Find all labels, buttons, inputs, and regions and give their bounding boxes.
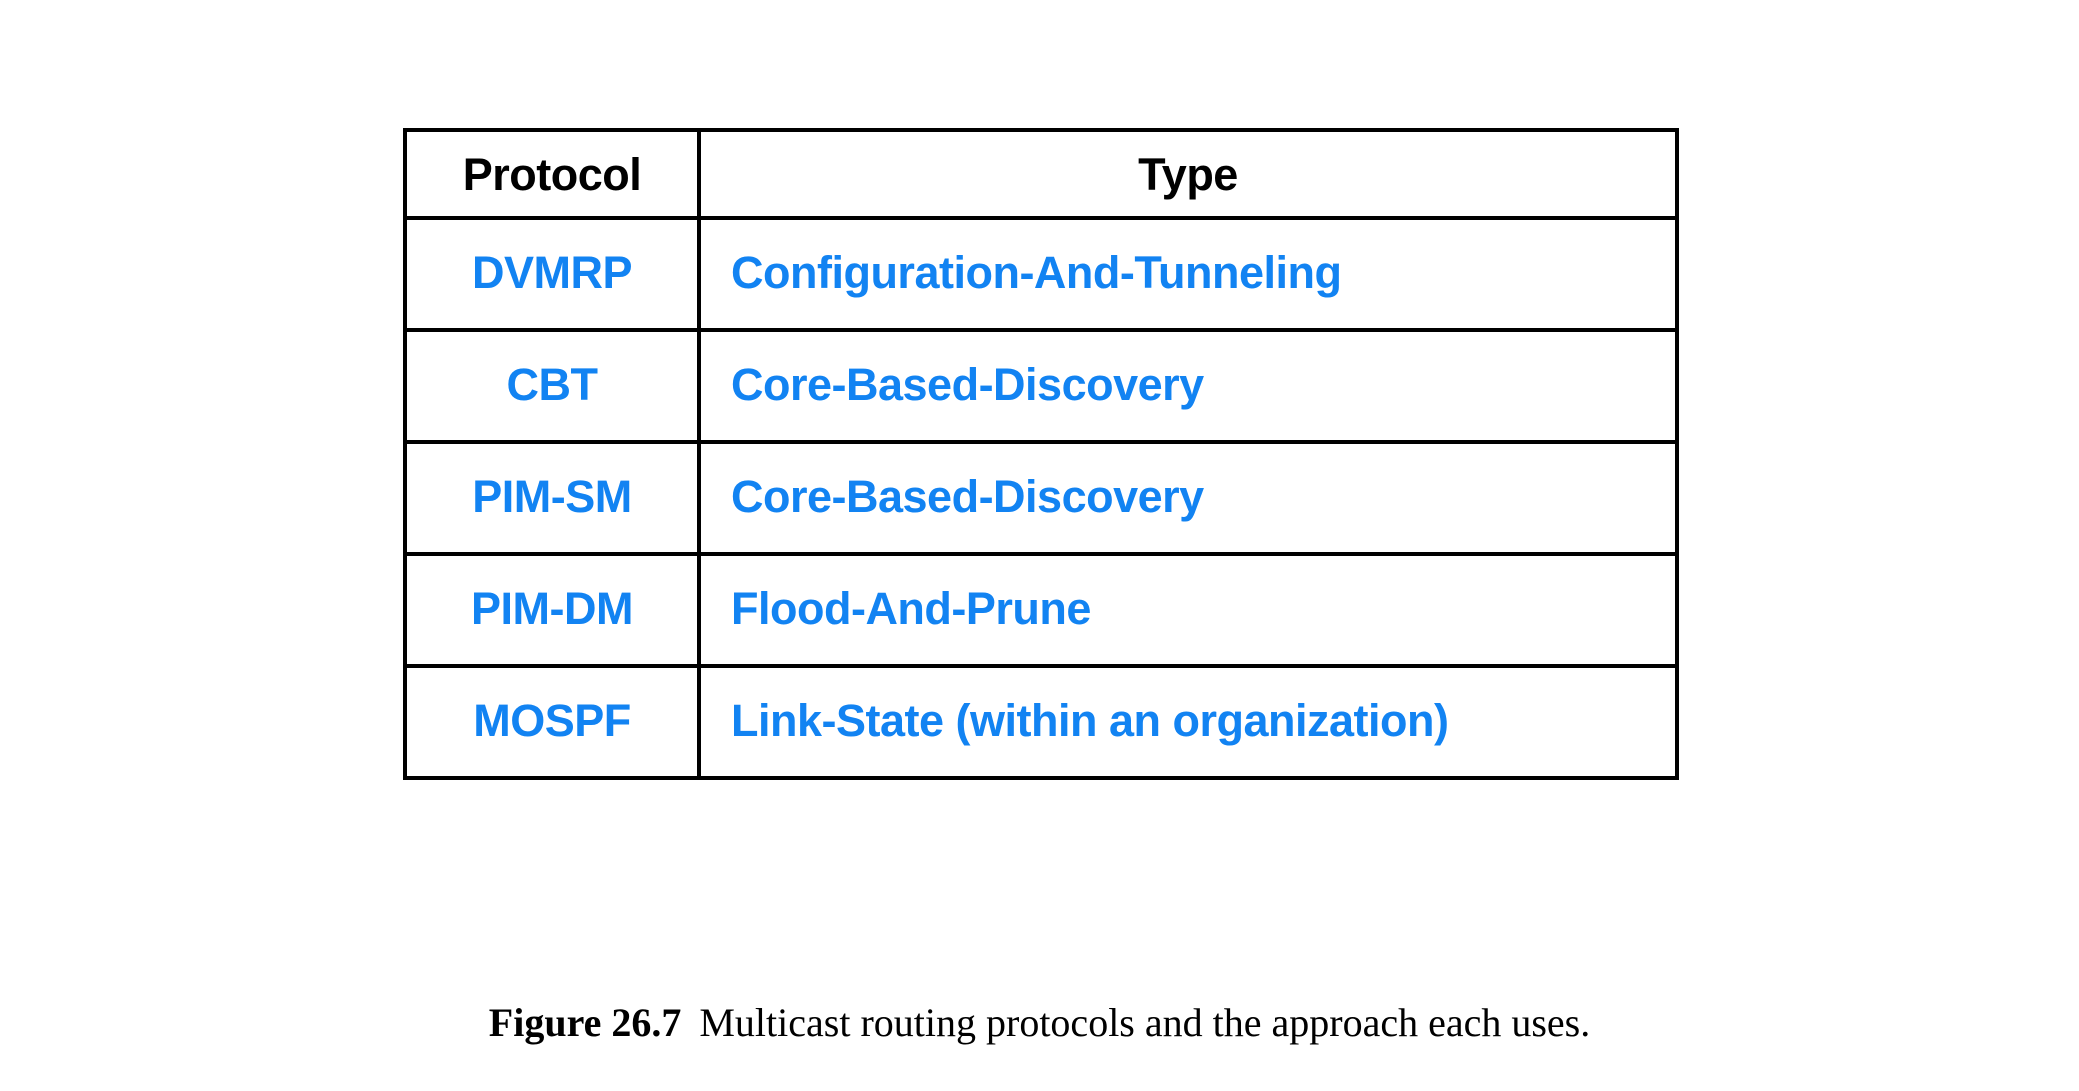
column-header-type: Type: [699, 130, 1677, 218]
cell-protocol: PIM-SM: [405, 442, 699, 554]
table-row: PIM-SM Core-Based-Discovery: [405, 442, 1677, 554]
figure-caption: Figure 26.7Multicast routing protocols a…: [0, 1000, 2079, 1046]
table-header-row: Protocol Type: [405, 130, 1677, 218]
figure-caption-text: Multicast routing protocols and the appr…: [699, 1000, 1590, 1045]
cell-protocol: DVMRP: [405, 218, 699, 330]
table-row: MOSPF Link-State (within an organization…: [405, 666, 1677, 778]
cell-type: Link-State (within an organization): [699, 666, 1677, 778]
multicast-routing-protocols-table: Protocol Type DVMRP Configuration-And-Tu…: [403, 128, 1679, 780]
cell-type: Core-Based-Discovery: [699, 330, 1677, 442]
cell-type: Configuration-And-Tunneling: [699, 218, 1677, 330]
table-header: Protocol Type: [405, 130, 1677, 218]
figure-caption-label: Figure 26.7: [489, 1000, 682, 1045]
table-body: DVMRP Configuration-And-Tunneling CBT Co…: [405, 218, 1677, 778]
cell-type: Core-Based-Discovery: [699, 442, 1677, 554]
table-row: PIM-DM Flood-And-Prune: [405, 554, 1677, 666]
cell-type: Flood-And-Prune: [699, 554, 1677, 666]
column-header-protocol: Protocol: [405, 130, 699, 218]
table-row: CBT Core-Based-Discovery: [405, 330, 1677, 442]
cell-protocol: CBT: [405, 330, 699, 442]
table-row: DVMRP Configuration-And-Tunneling: [405, 218, 1677, 330]
cell-protocol: MOSPF: [405, 666, 699, 778]
cell-protocol: PIM-DM: [405, 554, 699, 666]
